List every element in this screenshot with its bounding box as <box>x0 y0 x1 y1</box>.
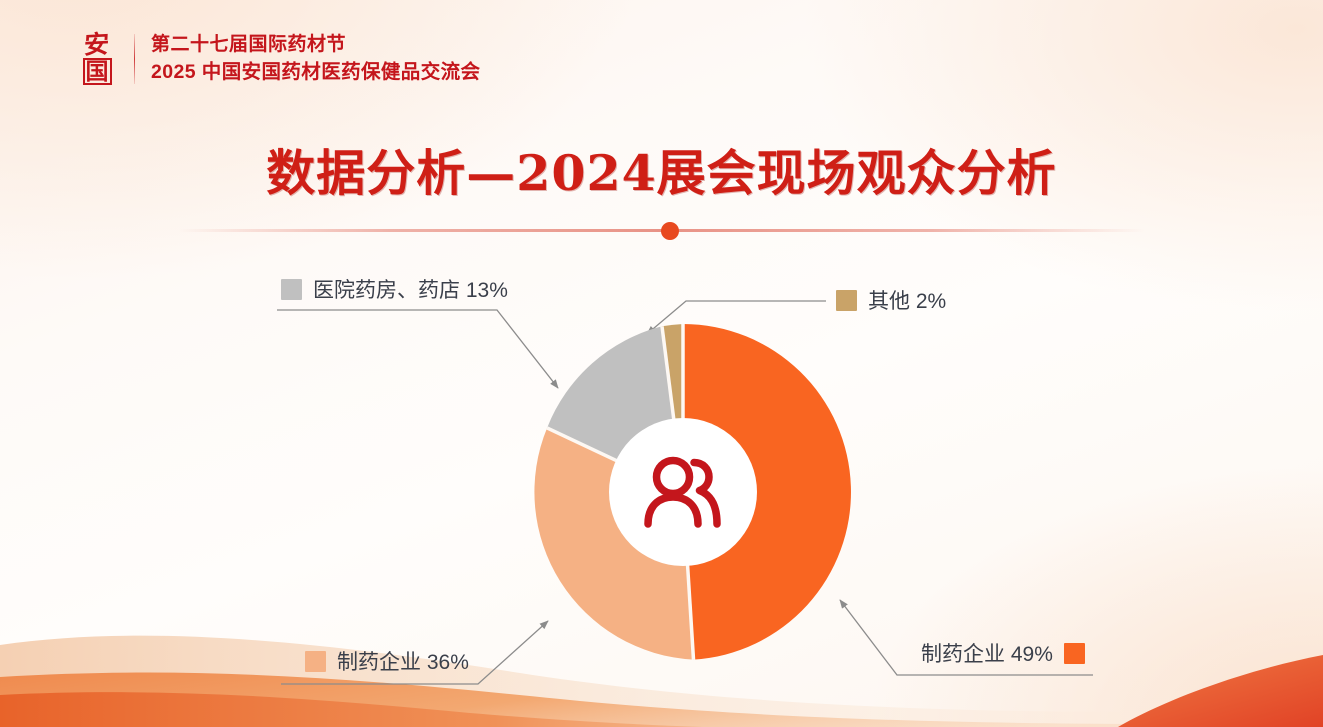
title-center-dot <box>661 222 679 240</box>
header-line-1: 第二十七届国际药材节 <box>151 32 480 58</box>
seal-char-bottom: 国 <box>83 58 112 85</box>
callout-hospital[interactable]: 医院药房、药店 13% <box>281 274 508 304</box>
seal-char-top: 安 <box>84 32 110 58</box>
callout-pharma36[interactable]: 制药企业 36% <box>305 646 469 676</box>
swatch-pharma36 <box>305 651 326 672</box>
center-icon-wrap <box>609 418 757 566</box>
callout-pharma36-label: 制药企业 36% <box>337 646 469 676</box>
callout-other[interactable]: 其他 2% <box>836 285 946 315</box>
header-line-2: 2025 中国安国药材医药保健品交流会 <box>151 59 480 86</box>
callout-pharma49-label: 制药企业 49% <box>921 638 1053 668</box>
swatch-hospital <box>281 279 302 300</box>
event-header: 安 国 第二十七届国际药材节 2025 中国安国药材医药保健品交流会 <box>74 31 480 87</box>
callout-other-label: 其他 2% <box>868 285 946 315</box>
swatch-pharma49 <box>1064 643 1085 664</box>
callout-pharma49[interactable]: 制药企业 49% <box>921 638 1085 668</box>
header-divider <box>134 34 135 84</box>
page-title: 数据分析—2024展会现场观众分析 <box>0 134 1323 205</box>
header-text-block: 第二十七届国际药材节 2025 中国安国药材医药保健品交流会 <box>151 32 480 85</box>
swatch-other <box>836 290 857 311</box>
audience-donut-chart <box>513 322 853 662</box>
slide-canvas: 安 国 第二十七届国际药材节 2025 中国安国药材医药保健品交流会 数据分析—… <box>0 0 1323 727</box>
anguo-seal-logo: 安 国 <box>74 31 120 87</box>
callout-hospital-label: 医院药房、药店 13% <box>313 274 508 304</box>
people-icon <box>640 454 726 530</box>
